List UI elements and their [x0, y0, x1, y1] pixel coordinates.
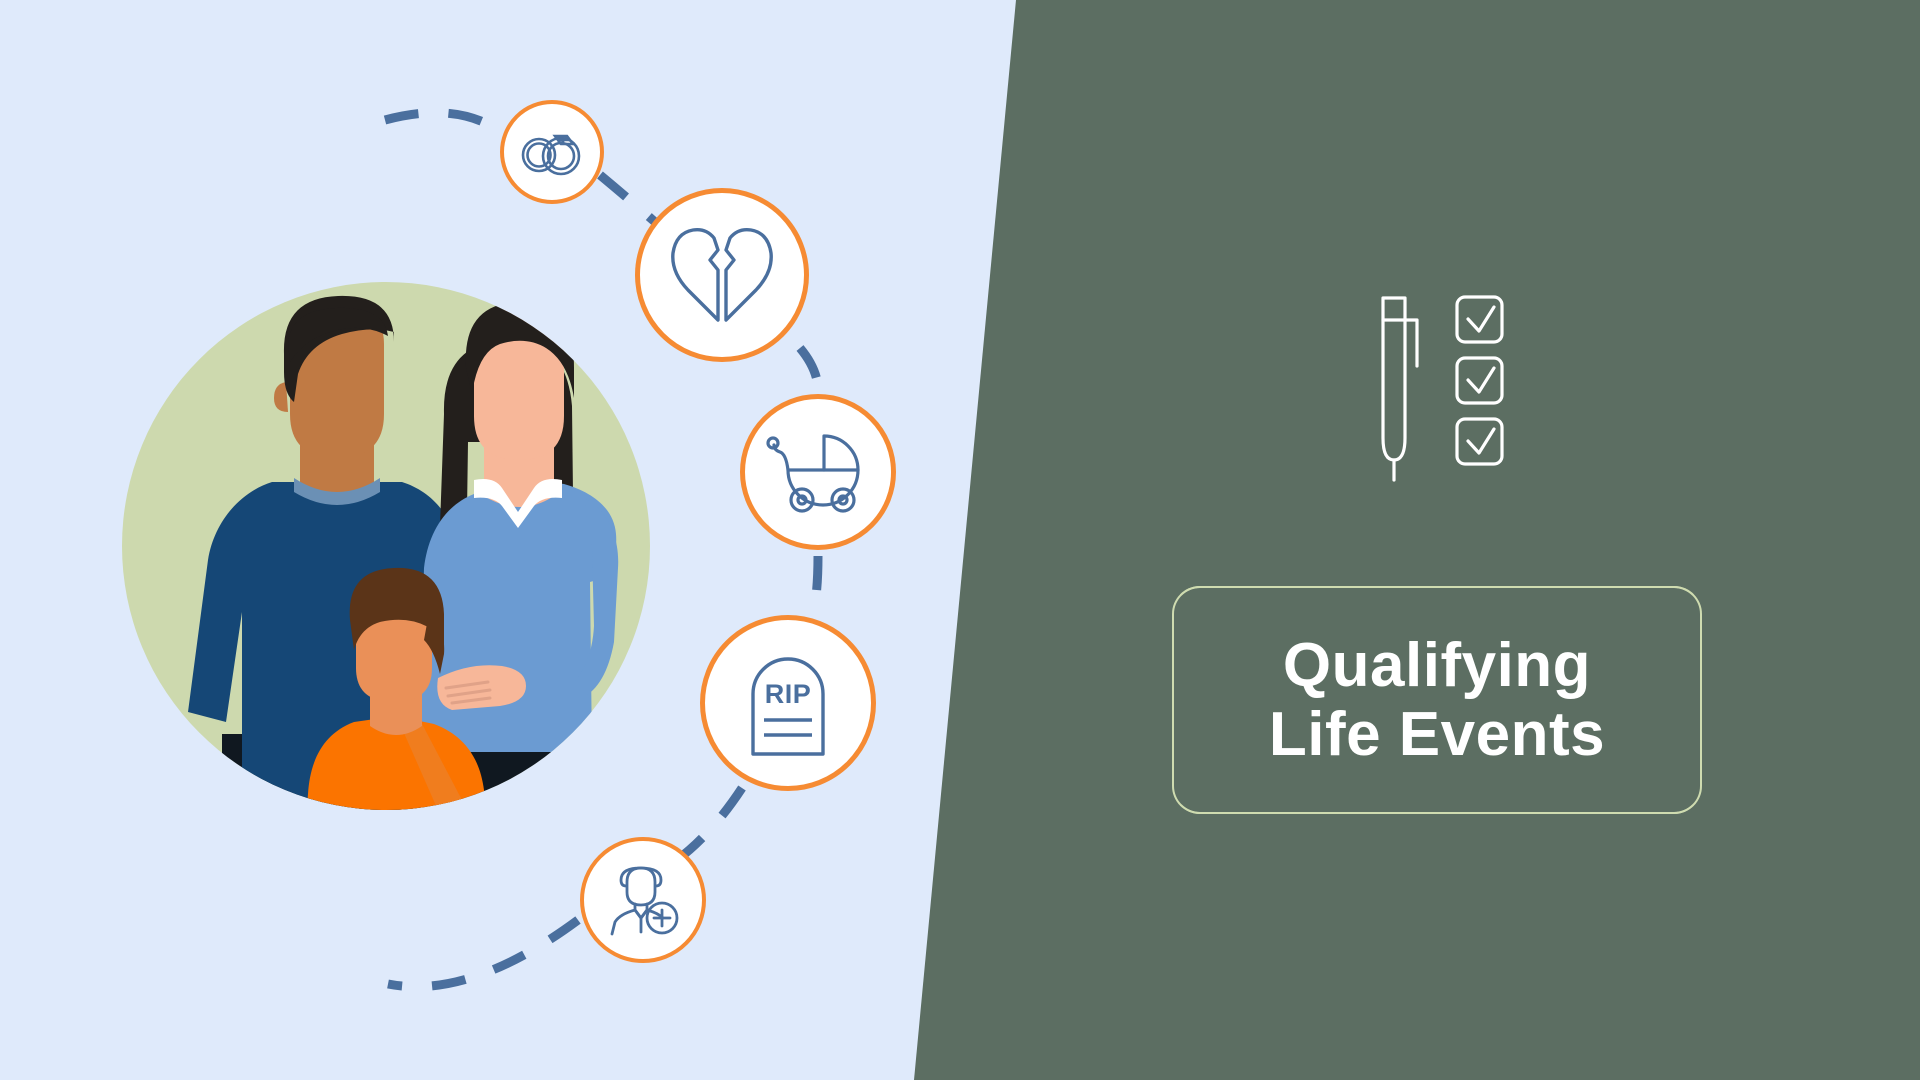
page-title: Qualifying Life Events [1269, 631, 1605, 770]
wedding-rings-icon [517, 124, 587, 180]
event-node-birth[interactable] [740, 394, 896, 550]
event-node-marriage[interactable] [500, 100, 604, 204]
add-person-icon [602, 864, 684, 936]
event-node-death[interactable]: RIP [700, 615, 876, 791]
event-node-new-dependent[interactable] [580, 837, 706, 963]
slide-canvas: RIP [0, 0, 1920, 1080]
pen-icon [1383, 298, 1417, 480]
event-node-divorce[interactable] [635, 188, 809, 362]
broken-heart-icon [666, 224, 778, 326]
title-frame: Qualifying Life Events [1172, 586, 1702, 814]
checkbox-checked-1 [1457, 297, 1502, 342]
family-of-three-illustration [122, 282, 650, 810]
checkbox-checked-2 [1457, 358, 1502, 403]
tombstone-rip-icon: RIP [740, 648, 836, 758]
pen-and-checklist-icon [1355, 288, 1535, 518]
baby-stroller-icon [766, 428, 870, 516]
checkbox-checked-3 [1457, 419, 1502, 464]
tombstone-rip-text: RIP [765, 679, 812, 709]
